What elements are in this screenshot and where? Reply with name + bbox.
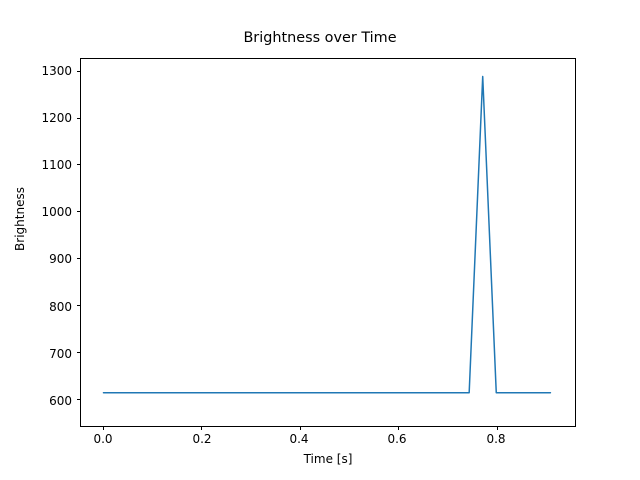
x-tick-mark-0.0 — [103, 427, 104, 431]
plot-area — [80, 58, 576, 427]
x-tick-mark-0.8 — [497, 427, 498, 431]
x-axis-label: Time [s] — [80, 452, 576, 466]
x-tick-mark-0.2 — [201, 427, 202, 431]
x-tick-label-0.6: 0.6 — [377, 432, 417, 446]
y-tick-label-900: 900 — [28, 252, 72, 266]
chart-figure: Brightness over Time Brightness Time [s]… — [0, 0, 640, 480]
y-tick-label-1100: 1100 — [28, 158, 72, 172]
chart-title: Brightness over Time — [0, 30, 640, 46]
x-tick-label-0.8: 0.8 — [476, 432, 516, 446]
y-tick-label-800: 800 — [28, 300, 72, 314]
y-tick-label-700: 700 — [28, 347, 72, 361]
x-tick-mark-0.4 — [300, 427, 301, 431]
y-axis-label: Brightness — [13, 169, 27, 269]
x-tick-mark-0.6 — [398, 427, 399, 431]
brightness-line — [103, 76, 550, 392]
x-tick-label-0.4: 0.4 — [279, 432, 319, 446]
data-line-svg — [81, 59, 575, 426]
y-tick-label-1300: 1300 — [28, 64, 72, 78]
y-tick-label-600: 600 — [28, 394, 72, 408]
y-tick-label-1000: 1000 — [28, 205, 72, 219]
x-tick-label-0.2: 0.2 — [182, 432, 222, 446]
x-tick-label-0.0: 0.0 — [83, 432, 123, 446]
y-tick-label-1200: 1200 — [28, 111, 72, 125]
